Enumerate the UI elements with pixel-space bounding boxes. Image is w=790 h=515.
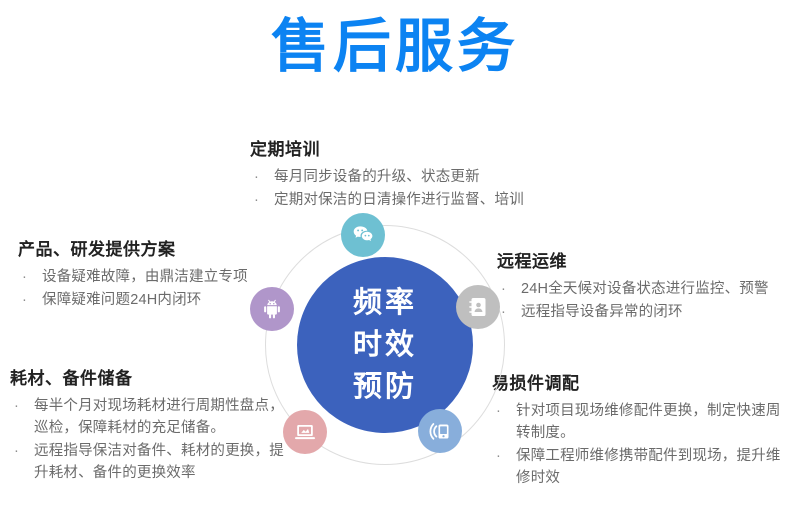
bullet-marker: · bbox=[254, 166, 259, 188]
page-title: 售后服务 bbox=[0, 8, 790, 86]
mobile-icon[interactable] bbox=[418, 409, 462, 453]
list-item: · 设备疑难故障，由鼎洁建立专项 bbox=[18, 266, 280, 288]
block-product-title: 产品、研发提供方案 bbox=[18, 238, 280, 262]
list-item-text: 保障工程师维修携带配件到现场，提升维修时效 bbox=[516, 448, 781, 486]
bullet-marker: · bbox=[22, 266, 27, 288]
contact-icon[interactable] bbox=[456, 285, 500, 329]
laptop-icon[interactable] bbox=[283, 410, 327, 454]
bullet-marker: · bbox=[254, 189, 259, 211]
chat-icon[interactable] bbox=[341, 213, 385, 257]
block-product-bullets: · 设备疑难故障，由鼎洁建立专项 · 保障疑难问题24H内闭环 bbox=[18, 266, 280, 311]
list-item: · 定期对保洁的日清操作进行监督、培训 bbox=[250, 189, 550, 211]
bullet-marker: · bbox=[22, 289, 27, 311]
list-item: · 每月同步设备的升级、状态更新 bbox=[250, 166, 550, 188]
central-diagram: 频率 时效 预防 bbox=[253, 213, 518, 478]
bullet-marker: · bbox=[14, 395, 19, 417]
list-item: · 针对项目现场维修配件更换，制定快速周转制度。 bbox=[492, 400, 790, 444]
list-item: · 远程指导设备异常的闭环 bbox=[497, 301, 787, 323]
block-product: 产品、研发提供方案 · 设备疑难故障，由鼎洁建立专项 · 保障疑难问题24H内闭… bbox=[18, 238, 280, 312]
block-remote: 远程运维 · 24H全天候对设备状态进行监控、预警 · 远程指导设备异常的闭环 bbox=[497, 250, 787, 324]
block-parts-title: 易损件调配 bbox=[492, 372, 790, 396]
block-parts: 易损件调配 · 针对项目现场维修配件更换，制定快速周转制度。 · 保障工程师维修… bbox=[492, 372, 790, 490]
core-line-2: 时效 bbox=[353, 324, 417, 366]
list-item-text: 每半个月对现场耗材进行周期性盘点，巡检，保障耗材的充足储备。 bbox=[34, 398, 284, 436]
bullet-marker: · bbox=[14, 440, 19, 462]
block-remote-bullets: · 24H全天候对设备状态进行监控、预警 · 远程指导设备异常的闭环 bbox=[497, 278, 787, 323]
list-item-text: 设备疑难故障，由鼎洁建立专项 bbox=[42, 269, 248, 285]
block-supplies-title: 耗材、备件储备 bbox=[10, 367, 290, 391]
block-training-title: 定期培训 bbox=[250, 138, 550, 162]
block-training: 定期培训 · 每月同步设备的升级、状态更新 · 定期对保洁的日清操作进行监督、培… bbox=[250, 138, 550, 212]
android-icon[interactable] bbox=[250, 287, 294, 331]
list-item-text: 24H全天候对设备状态进行监控、预警 bbox=[521, 281, 769, 297]
core-circle: 频率 时效 预防 bbox=[297, 257, 473, 433]
block-supplies-bullets: · 每半个月对现场耗材进行周期性盘点，巡检，保障耗材的充足储备。 · 远程指导保… bbox=[10, 395, 290, 484]
list-item-text: 定期对保洁的日清操作进行监督、培训 bbox=[274, 192, 524, 208]
core-line-1: 频率 bbox=[353, 282, 417, 324]
list-item-text: 远程指导保洁对备件、耗材的更换，提升耗材、备件的更换效率 bbox=[34, 443, 284, 481]
list-item-text: 保障疑难问题24H内闭环 bbox=[42, 292, 202, 308]
block-parts-bullets: · 针对项目现场维修配件更换，制定快速周转制度。 · 保障工程师维修携带配件到现… bbox=[492, 400, 790, 489]
block-training-bullets: · 每月同步设备的升级、状态更新 · 定期对保洁的日清操作进行监督、培训 bbox=[250, 166, 550, 211]
list-item: · 保障工程师维修携带配件到现场，提升维修时效 bbox=[492, 445, 790, 489]
block-remote-title: 远程运维 bbox=[497, 250, 787, 274]
list-item-text: 每月同步设备的升级、状态更新 bbox=[274, 169, 480, 185]
core-line-3: 预防 bbox=[353, 366, 417, 408]
block-supplies: 耗材、备件储备 · 每半个月对现场耗材进行周期性盘点，巡检，保障耗材的充足储备。… bbox=[10, 367, 290, 485]
list-item: · 保障疑难问题24H内闭环 bbox=[18, 289, 280, 311]
list-item: · 远程指导保洁对备件、耗材的更换，提升耗材、备件的更换效率 bbox=[10, 440, 290, 484]
list-item-text: 远程指导设备异常的闭环 bbox=[521, 304, 683, 320]
list-item: · 24H全天候对设备状态进行监控、预警 bbox=[497, 278, 787, 300]
list-item: · 每半个月对现场耗材进行周期性盘点，巡检，保障耗材的充足储备。 bbox=[10, 395, 290, 439]
list-item-text: 针对项目现场维修配件更换，制定快速周转制度。 bbox=[516, 403, 781, 441]
